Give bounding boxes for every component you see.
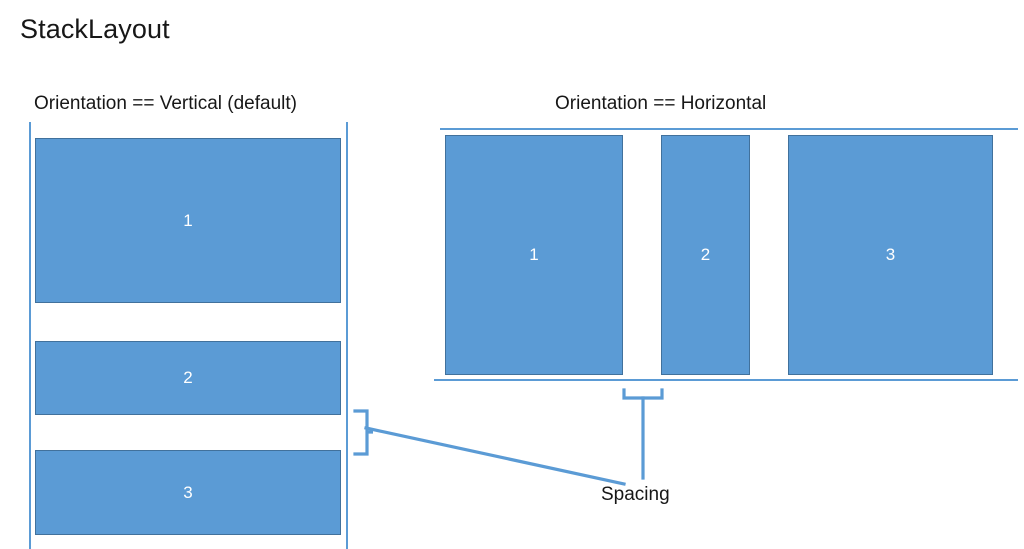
- vertical-stack-item-1[interactable]: 1: [35, 138, 341, 303]
- horizontal-section-caption: Orientation == Horizontal: [555, 93, 766, 115]
- vertical-stack-item-2[interactable]: 2: [35, 341, 341, 415]
- spacing-leader-line: [366, 428, 628, 488]
- vertical-section-caption: Orientation == Vertical (default): [34, 93, 297, 115]
- spacing-annotation-label: Spacing: [601, 484, 670, 506]
- horizontal-stack-item-3[interactable]: 3: [788, 135, 993, 375]
- horizontal-stack-item-3-label: 3: [886, 245, 895, 265]
- horizontal-stack-item-2-label: 2: [701, 245, 710, 265]
- horizontal-stack-item-2[interactable]: 2: [661, 135, 750, 375]
- vertical-stack-item-3-label: 3: [183, 483, 192, 503]
- vertical-stack-right-guide-line: [346, 122, 348, 549]
- vertical-stack-item-3[interactable]: 3: [35, 450, 341, 535]
- horizontal-stack-item-1-label: 1: [529, 245, 538, 265]
- horizontal-stack-bottom-guide-line: [434, 379, 1018, 381]
- vertical-stack-left-guide-line: [29, 122, 31, 549]
- diagram-canvas: StackLayout Orientation == Vertical (def…: [0, 0, 1024, 549]
- vertical-stack-item-1-label: 1: [183, 211, 192, 231]
- horizontal-stack-top-guide-line: [440, 128, 1018, 130]
- horizontal-spacing-bracket-icon: [618, 386, 668, 486]
- vertical-stack-item-2-label: 2: [183, 368, 192, 388]
- page-title: StackLayout: [20, 14, 170, 45]
- horizontal-stack-item-1[interactable]: 1: [445, 135, 623, 375]
